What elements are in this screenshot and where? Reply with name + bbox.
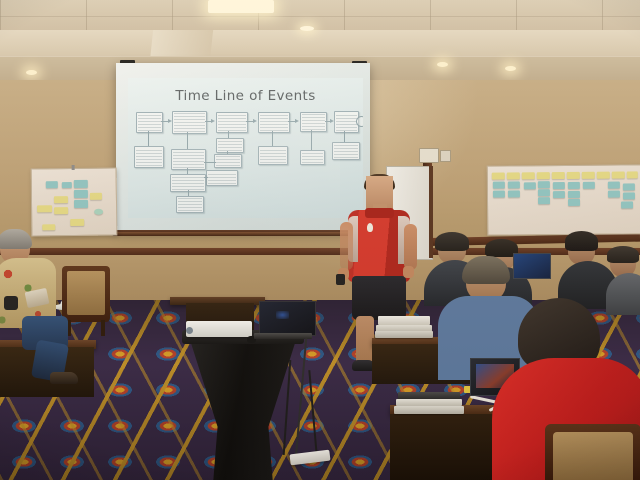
flow-box-text bbox=[216, 156, 240, 166]
flow-connector bbox=[272, 131, 273, 146]
binder-stack-bottom bbox=[375, 331, 433, 338]
flow-subbox-10 bbox=[176, 196, 204, 213]
recessed-downlight-left bbox=[26, 70, 37, 75]
sticky-note-blue bbox=[508, 181, 520, 188]
sticky-note-blue bbox=[553, 191, 565, 198]
ceiling-light-panel bbox=[208, 0, 274, 13]
sticky-note-blue bbox=[493, 182, 505, 189]
conference-room-photo: Time Line of Events bbox=[0, 0, 640, 480]
binder-lower bbox=[394, 406, 464, 414]
projector-lens bbox=[186, 327, 193, 334]
presenter-shirt-logo bbox=[367, 223, 373, 232]
sticky-note-yellow bbox=[37, 205, 52, 212]
attendee-table-front-body bbox=[390, 414, 506, 480]
flow-connector bbox=[187, 132, 188, 149]
flow-arrow bbox=[211, 119, 215, 123]
flow-connector bbox=[148, 131, 149, 146]
sticky-note-yellow bbox=[70, 219, 84, 226]
sticky-note-blue bbox=[608, 182, 620, 189]
presenter-collar bbox=[365, 208, 394, 218]
flow-connector bbox=[188, 190, 189, 196]
flow-box-1 bbox=[136, 112, 163, 133]
presenter-shorts bbox=[352, 276, 406, 320]
sticky-note-blue bbox=[568, 182, 580, 189]
flow-arrow bbox=[295, 119, 299, 123]
sticky-note-blue bbox=[493, 191, 505, 198]
wall-control-plate[interactable] bbox=[440, 150, 451, 162]
flow-box-text bbox=[302, 152, 323, 163]
sticky-note-blue bbox=[524, 182, 536, 189]
sticky-note-blue bbox=[608, 191, 620, 198]
flow-box-text bbox=[172, 176, 204, 190]
flow-connector bbox=[227, 151, 228, 154]
flow-box-text bbox=[260, 114, 288, 131]
sticky-note-yellow bbox=[552, 172, 565, 179]
sticky-note-yellow bbox=[597, 172, 610, 179]
flow-arrow bbox=[330, 119, 334, 123]
flow-arrow bbox=[253, 119, 257, 123]
sticky-note-blue bbox=[553, 182, 565, 189]
ceiling-light-small bbox=[300, 26, 314, 31]
presenter-arm-right bbox=[404, 224, 417, 270]
flow-connector bbox=[228, 131, 229, 138]
sticky-note-yellow bbox=[492, 173, 505, 180]
thermostat-panel[interactable] bbox=[419, 148, 439, 163]
chair-leg bbox=[101, 320, 105, 336]
presenter-hand-right bbox=[403, 266, 414, 278]
sticky-note-yellow bbox=[507, 172, 520, 179]
sticky-note-yellow bbox=[612, 171, 625, 178]
binder-stack-top bbox=[378, 316, 430, 325]
attendee-floral-shirt bbox=[0, 232, 84, 382]
sticky-note-blue bbox=[74, 180, 88, 188]
sticky-note-yellow bbox=[582, 172, 595, 179]
flow-box-text bbox=[302, 114, 325, 130]
sticky-note-blue bbox=[623, 183, 635, 190]
flow-box-3 bbox=[216, 112, 248, 133]
attendee-hair bbox=[462, 256, 510, 284]
flow-subbox-8 bbox=[206, 170, 238, 186]
sticky-note-blue bbox=[538, 181, 550, 188]
attendee-hair bbox=[565, 231, 598, 251]
presenter-arm-left bbox=[340, 222, 353, 270]
table-drape bbox=[190, 340, 296, 480]
sticky-note-yellow bbox=[54, 207, 68, 214]
flow-subbox-6 bbox=[300, 150, 325, 165]
sticky-note-blue bbox=[538, 197, 550, 204]
flow-box-4 bbox=[258, 112, 290, 133]
sticky-note-blue bbox=[538, 189, 550, 196]
flow-subbox-3 bbox=[216, 138, 244, 153]
sticky-note-blue bbox=[623, 192, 635, 199]
flow-connector bbox=[311, 130, 312, 150]
sticky-note-yellow bbox=[42, 224, 55, 230]
slide-title: Time Line of Events bbox=[128, 88, 363, 104]
flow-terminator-circle bbox=[356, 116, 363, 127]
flow-connector bbox=[344, 131, 345, 142]
flow-box-text bbox=[218, 140, 242, 151]
wall-chart-right bbox=[487, 164, 640, 235]
slide-flowchart bbox=[128, 106, 363, 214]
recessed-downlight-right bbox=[505, 66, 516, 71]
flow-box-5 bbox=[300, 112, 327, 132]
sticky-note-yellow bbox=[54, 196, 68, 203]
attendee-hair bbox=[0, 229, 32, 249]
sticky-note-yellow bbox=[627, 171, 638, 178]
chart-clip bbox=[72, 165, 75, 170]
sticky-note-yellow bbox=[522, 172, 535, 179]
flow-box-text bbox=[178, 198, 202, 211]
flow-box-2 bbox=[172, 111, 207, 134]
attendee-hair bbox=[435, 232, 469, 251]
laptop-keyboard[interactable] bbox=[254, 333, 312, 339]
recessed-downlight-center bbox=[437, 62, 448, 67]
foreground-chair[interactable] bbox=[545, 424, 640, 480]
flow-box-text bbox=[336, 113, 357, 131]
flow-subbox-5 bbox=[258, 146, 288, 165]
chair-back-cushion bbox=[553, 432, 633, 480]
paper-stack bbox=[396, 399, 462, 406]
laptop-screen-glow bbox=[276, 311, 289, 319]
attendee-bag bbox=[4, 296, 18, 310]
flow-subbox-7 bbox=[332, 142, 360, 160]
sticky-note-blue bbox=[568, 191, 580, 198]
sticky-note-yellow bbox=[567, 172, 580, 179]
sticky-note-blue bbox=[621, 201, 633, 208]
flow-box-text bbox=[138, 114, 161, 131]
ceiling bbox=[0, 0, 640, 62]
sticky-note-blue bbox=[568, 199, 580, 206]
flow-connector bbox=[187, 168, 188, 174]
laptop-screen[interactable] bbox=[259, 301, 316, 336]
attendee-shoe bbox=[50, 372, 78, 384]
flow-box-text bbox=[173, 151, 204, 168]
sticky-note-green bbox=[94, 209, 103, 215]
sticky-note-yellow bbox=[537, 172, 550, 179]
sticky-note-blue bbox=[583, 182, 595, 189]
wall-chart-left bbox=[31, 168, 118, 237]
presentation-slide: Time Line of Events bbox=[128, 78, 363, 218]
sticky-note-blue bbox=[46, 181, 58, 188]
flow-connector bbox=[204, 162, 216, 163]
sticky-note-blue bbox=[508, 190, 520, 197]
flow-box-text bbox=[136, 148, 162, 166]
flow-subbox-1 bbox=[134, 146, 164, 168]
flow-box-text bbox=[334, 144, 358, 158]
screen-weight-bar bbox=[112, 232, 374, 236]
sticky-note-yellow bbox=[90, 193, 102, 200]
sticky-note-blue bbox=[74, 200, 88, 208]
projector bbox=[186, 321, 252, 337]
flow-box-text bbox=[174, 113, 205, 132]
flow-connector bbox=[204, 177, 208, 178]
attendee-hair bbox=[607, 246, 639, 263]
flow-subbox-2 bbox=[171, 149, 206, 170]
flow-box-text bbox=[218, 114, 246, 131]
flow-box-text bbox=[260, 148, 286, 163]
flow-box-text bbox=[208, 172, 236, 184]
flow-subbox-4 bbox=[214, 154, 242, 168]
presentation-remote[interactable] bbox=[336, 274, 345, 285]
sticky-note-blue bbox=[62, 182, 72, 188]
flow-arrow bbox=[168, 119, 172, 123]
sticky-note-blue bbox=[74, 190, 88, 198]
